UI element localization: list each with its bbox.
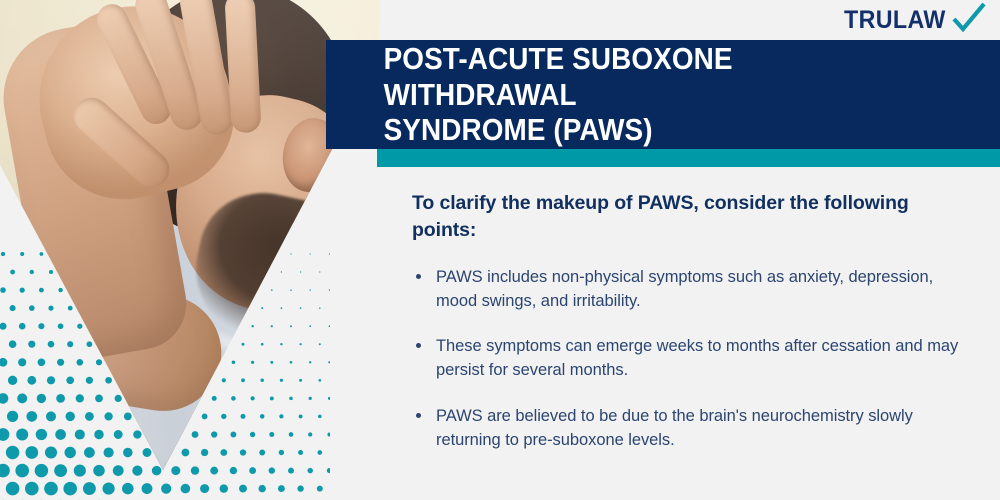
content-panel: To clarify the makeup of PAWS, consider …: [412, 190, 972, 452]
list-item-text: PAWS are believed to be due to the brain…: [436, 407, 913, 449]
list-item: These symptoms can emerge weeks to month…: [412, 335, 972, 383]
title-banner: POST-ACUTE SUBOXONE WITHDRAWAL SYNDROME …: [326, 40, 1000, 149]
list-item-text: These symptoms can emerge weeks to month…: [436, 337, 958, 379]
bullet-list: PAWS includes non-physical symptoms such…: [412, 266, 972, 453]
list-item: PAWS includes non-physical symptoms such…: [412, 266, 972, 314]
list-item: PAWS are believed to be due to the brain…: [412, 405, 972, 453]
bullet-marker-icon: [416, 413, 421, 418]
bullet-marker-icon: [416, 274, 421, 279]
teal-accent-bar: [377, 149, 1000, 167]
page-title: POST-ACUTE SUBOXONE WITHDRAWAL SYNDROME …: [326, 41, 933, 149]
logo-wordmark: TRULAW: [844, 6, 946, 34]
trulaw-logo[interactable]: TRULAW: [844, 6, 986, 38]
list-item-text: PAWS includes non-physical symptoms such…: [436, 268, 933, 310]
lead-paragraph: To clarify the makeup of PAWS, consider …: [412, 190, 972, 244]
bullet-marker-icon: [416, 343, 421, 348]
checkmark-icon: [952, 2, 986, 39]
infographic-canvas: TRULAW POST-ACUTE SUBOXONE WITHDRAWAL SY…: [0, 0, 1000, 500]
